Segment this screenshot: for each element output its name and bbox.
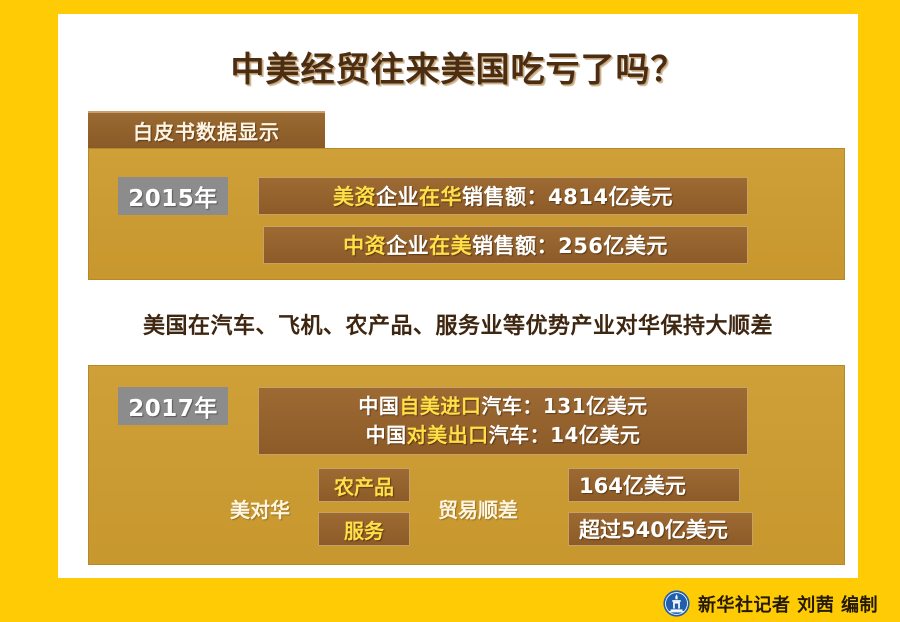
credit-text: 新华社记者 刘茜 编制 [698, 591, 878, 617]
plain-term: 中国 [366, 423, 407, 447]
plain-term: 汽车：14亿美元 [489, 423, 641, 447]
xinhua-logo [663, 590, 690, 617]
value-box-agriculture: 164亿美元 [568, 468, 740, 502]
badge-white-paper: 白皮书数据显示 [88, 111, 325, 148]
value-box-services: 超过540亿美元 [568, 512, 753, 546]
data-bar-text-export: 中国对美出口汽车：14亿美元 [366, 421, 641, 450]
highlight-term: 在美 [429, 234, 472, 258]
badge-label: 白皮书数据显示 [133, 116, 280, 145]
highlight-term: 美资 [333, 185, 376, 209]
highlight-term: 在华 [419, 185, 462, 209]
data-bar-text: 美资企业在华销售额：4814亿美元 [333, 181, 673, 211]
surplus-label-left: 美对华 [230, 494, 290, 523]
category-label: 服务 [344, 515, 384, 544]
plain-term: 中国 [358, 394, 399, 418]
plain-term: 企业 [386, 234, 429, 258]
highlight-term: 对美出口 [407, 423, 489, 447]
plain-term: 销售额：256亿美元 [472, 234, 668, 258]
data-bar-us-firms-in-china: 美资企业在华销售额：4814亿美元 [258, 177, 748, 215]
data-bar-china-firms-in-us: 中资企业在美销售额：256亿美元 [263, 226, 748, 264]
plain-term: 销售额：4814亿美元 [462, 185, 673, 209]
category-box-services: 服务 [318, 512, 410, 546]
value-label: 超过540亿美元 [579, 514, 728, 544]
page-title: 中美经贸往来美国吃亏了吗？ [58, 42, 858, 91]
highlight-term: 中资 [343, 234, 386, 258]
data-bar-text: 中资企业在美销售额：256亿美元 [343, 230, 668, 260]
surplus-row: 美对华 农产品 服务 贸易顺差 164亿美元 超过540亿美元 [198, 460, 818, 556]
section-heading-surplus: 美国在汽车、飞机、农产品、服务业等优势产业对华保持大顺差 [58, 308, 858, 340]
category-label: 农产品 [334, 471, 394, 500]
year-label-2017: 2017年 [128, 389, 218, 423]
white-card: 中美经贸往来美国吃亏了吗？ 白皮书数据显示 2015年 美资企业在华销售额：48… [58, 14, 858, 578]
plain-term: 汽车：131亿美元 [481, 394, 647, 418]
footer-credit: 新华社记者 刘茜 编制 [663, 590, 878, 617]
category-box-agriculture: 农产品 [318, 468, 410, 502]
surplus-label-mid: 贸易顺差 [438, 494, 518, 523]
year-chip-2015: 2015年 [118, 177, 228, 215]
data-bar-text-import: 中国自美进口汽车：131亿美元 [358, 392, 647, 421]
year-label-2015: 2015年 [128, 179, 218, 213]
plain-term: 企业 [376, 185, 419, 209]
data-bar-auto-trade: 中国自美进口汽车：131亿美元 中国对美出口汽车：14亿美元 [258, 387, 748, 455]
infographic-poster: 中美经贸往来美国吃亏了吗？ 白皮书数据显示 2015年 美资企业在华销售额：48… [0, 0, 900, 622]
value-label: 164亿美元 [579, 470, 686, 500]
highlight-term: 自美进口 [399, 394, 481, 418]
year-chip-2017: 2017年 [118, 387, 228, 425]
